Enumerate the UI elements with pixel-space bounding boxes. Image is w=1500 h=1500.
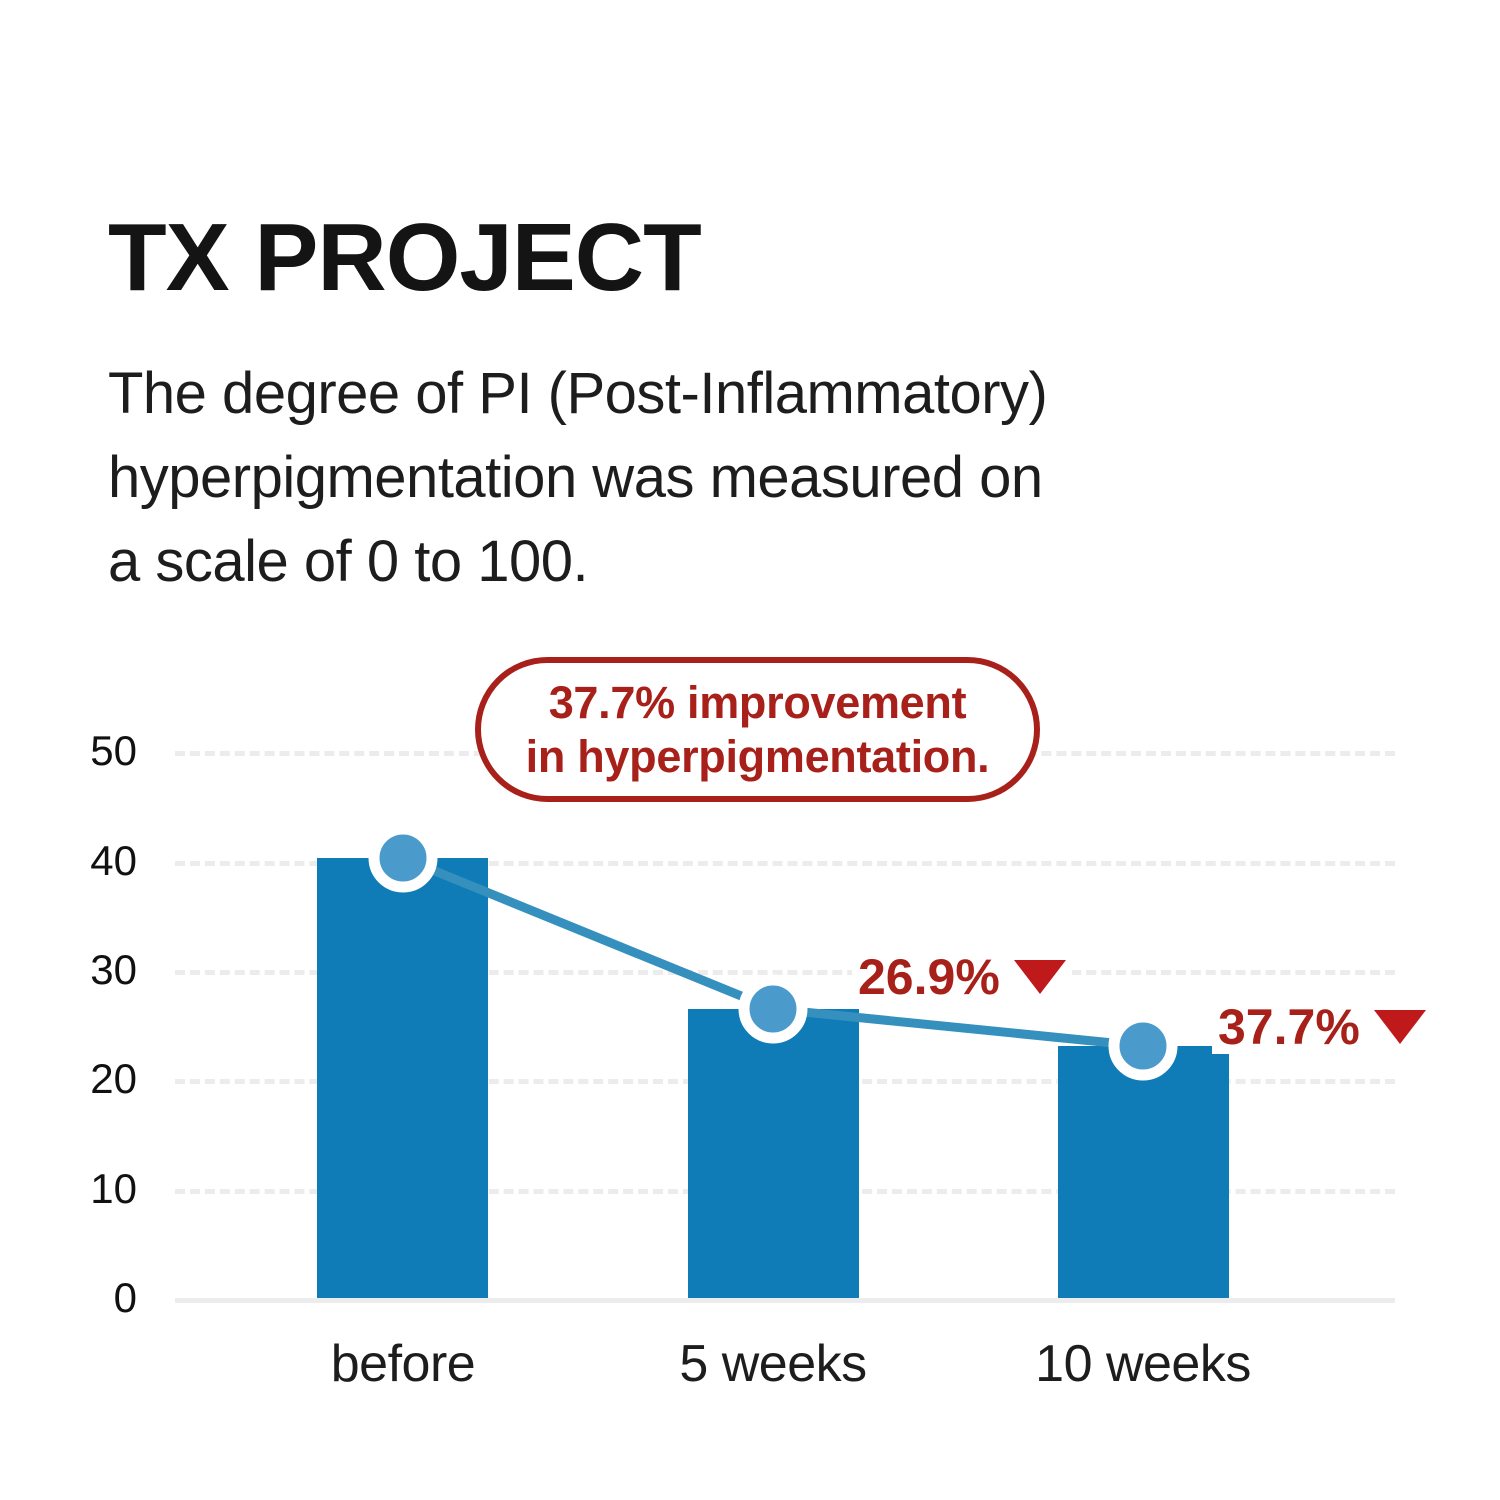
xtick-label-10-weeks: 10 weeks — [983, 1335, 1303, 1393]
bar-5-weeks[interactable] — [688, 1009, 859, 1298]
ytick-label-30: 30 — [17, 949, 137, 991]
down-triangle-icon — [1374, 1010, 1426, 1044]
delta-label-10-weeks: 37.7% — [1218, 1002, 1360, 1052]
xtick-label-5-weeks: 5 weeks — [613, 1335, 933, 1393]
chart-container: 50 40 30 20 10 0 before 5 weeks 10 weeks — [0, 0, 1500, 1500]
infographic-page: TX PROJECT The degree of PI (Post-Inflam… — [0, 0, 1500, 1500]
bar-before[interactable] — [317, 858, 488, 1298]
axis-line-zero — [175, 1298, 1395, 1303]
ytick-label-50: 50 — [17, 730, 137, 772]
bar-10-weeks[interactable] — [1058, 1046, 1229, 1298]
ytick-label-0: 0 — [17, 1277, 137, 1319]
down-triangle-icon — [1014, 960, 1066, 994]
ytick-label-20: 20 — [17, 1058, 137, 1100]
xtick-label-before: before — [243, 1335, 563, 1393]
callout-line-1: 37.7% improvement — [549, 676, 967, 730]
delta-label-5-weeks: 26.9% — [858, 952, 1000, 1002]
delta-badge-5-weeks: 26.9% — [852, 950, 1072, 1004]
improvement-callout: 37.7% improvement in hyperpigmentation. — [475, 657, 1040, 802]
delta-badge-10-weeks: 37.7% — [1212, 1000, 1432, 1054]
callout-line-2: in hyperpigmentation. — [526, 730, 990, 784]
ytick-label-40: 40 — [17, 840, 137, 882]
ytick-label-10: 10 — [17, 1168, 137, 1210]
